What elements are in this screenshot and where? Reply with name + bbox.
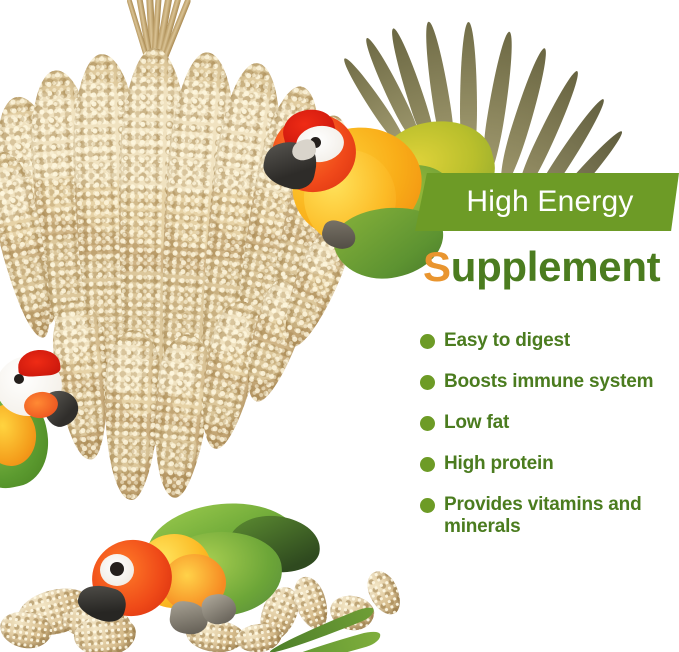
millet-spray	[101, 329, 163, 501]
bullet-dot-icon	[420, 334, 435, 349]
millet-spray	[146, 332, 217, 501]
flying-sun-conure	[262, 18, 562, 278]
page-title: Supplement	[423, 246, 660, 288]
millet-spray	[148, 50, 241, 446]
millet-stem	[151, 0, 173, 81]
bullet-dot-icon	[420, 416, 435, 431]
list-item: Boosts immune system	[420, 371, 679, 393]
list-item: Provides vitamins and minerals	[420, 494, 679, 538]
feeding-sun-conure	[78, 498, 388, 652]
product-marketing-image: High Energy Supplement Easy to digest Bo…	[0, 0, 679, 652]
millet-spray	[115, 47, 190, 448]
headline-initial: S	[423, 243, 451, 290]
millet-stem	[158, 0, 191, 68]
bullet-dot-icon	[420, 457, 435, 472]
headline-rest: upplement	[451, 243, 661, 290]
list-item: Easy to digest	[420, 330, 679, 352]
parrot-eye	[14, 374, 24, 384]
list-item: Low fat	[420, 412, 679, 434]
partial-sun-conure	[0, 352, 76, 502]
millet-stem	[126, 0, 150, 62]
benefit-label: Low fat	[444, 412, 509, 434]
millet-stem	[146, 0, 157, 80]
benefits-list: Easy to digest Boosts immune system Low …	[420, 330, 679, 557]
benefit-label: Easy to digest	[444, 330, 570, 352]
bullet-dot-icon	[420, 498, 435, 513]
millet-spray	[0, 93, 74, 328]
millet-piece	[0, 609, 54, 652]
millet-spray	[26, 68, 109, 372]
benefit-label: High protein	[444, 453, 553, 475]
millet-stem	[154, 0, 182, 74]
millet-stem	[136, 0, 155, 73]
benefit-label: Provides vitamins and minerals	[444, 494, 658, 538]
banner-label: High Energy	[460, 185, 633, 219]
list-item: High protein	[420, 453, 679, 475]
bullet-dot-icon	[420, 375, 435, 390]
parrot-crown	[17, 349, 61, 378]
parrot-eye	[110, 562, 124, 576]
millet-spray	[233, 268, 318, 408]
benefit-label: Boosts immune system	[444, 371, 653, 393]
high-energy-banner: High Energy	[415, 173, 679, 231]
millet-stem	[150, 0, 162, 84]
millet-spray	[70, 53, 149, 415]
millet-spray	[189, 296, 269, 453]
millet-spray	[0, 148, 63, 343]
